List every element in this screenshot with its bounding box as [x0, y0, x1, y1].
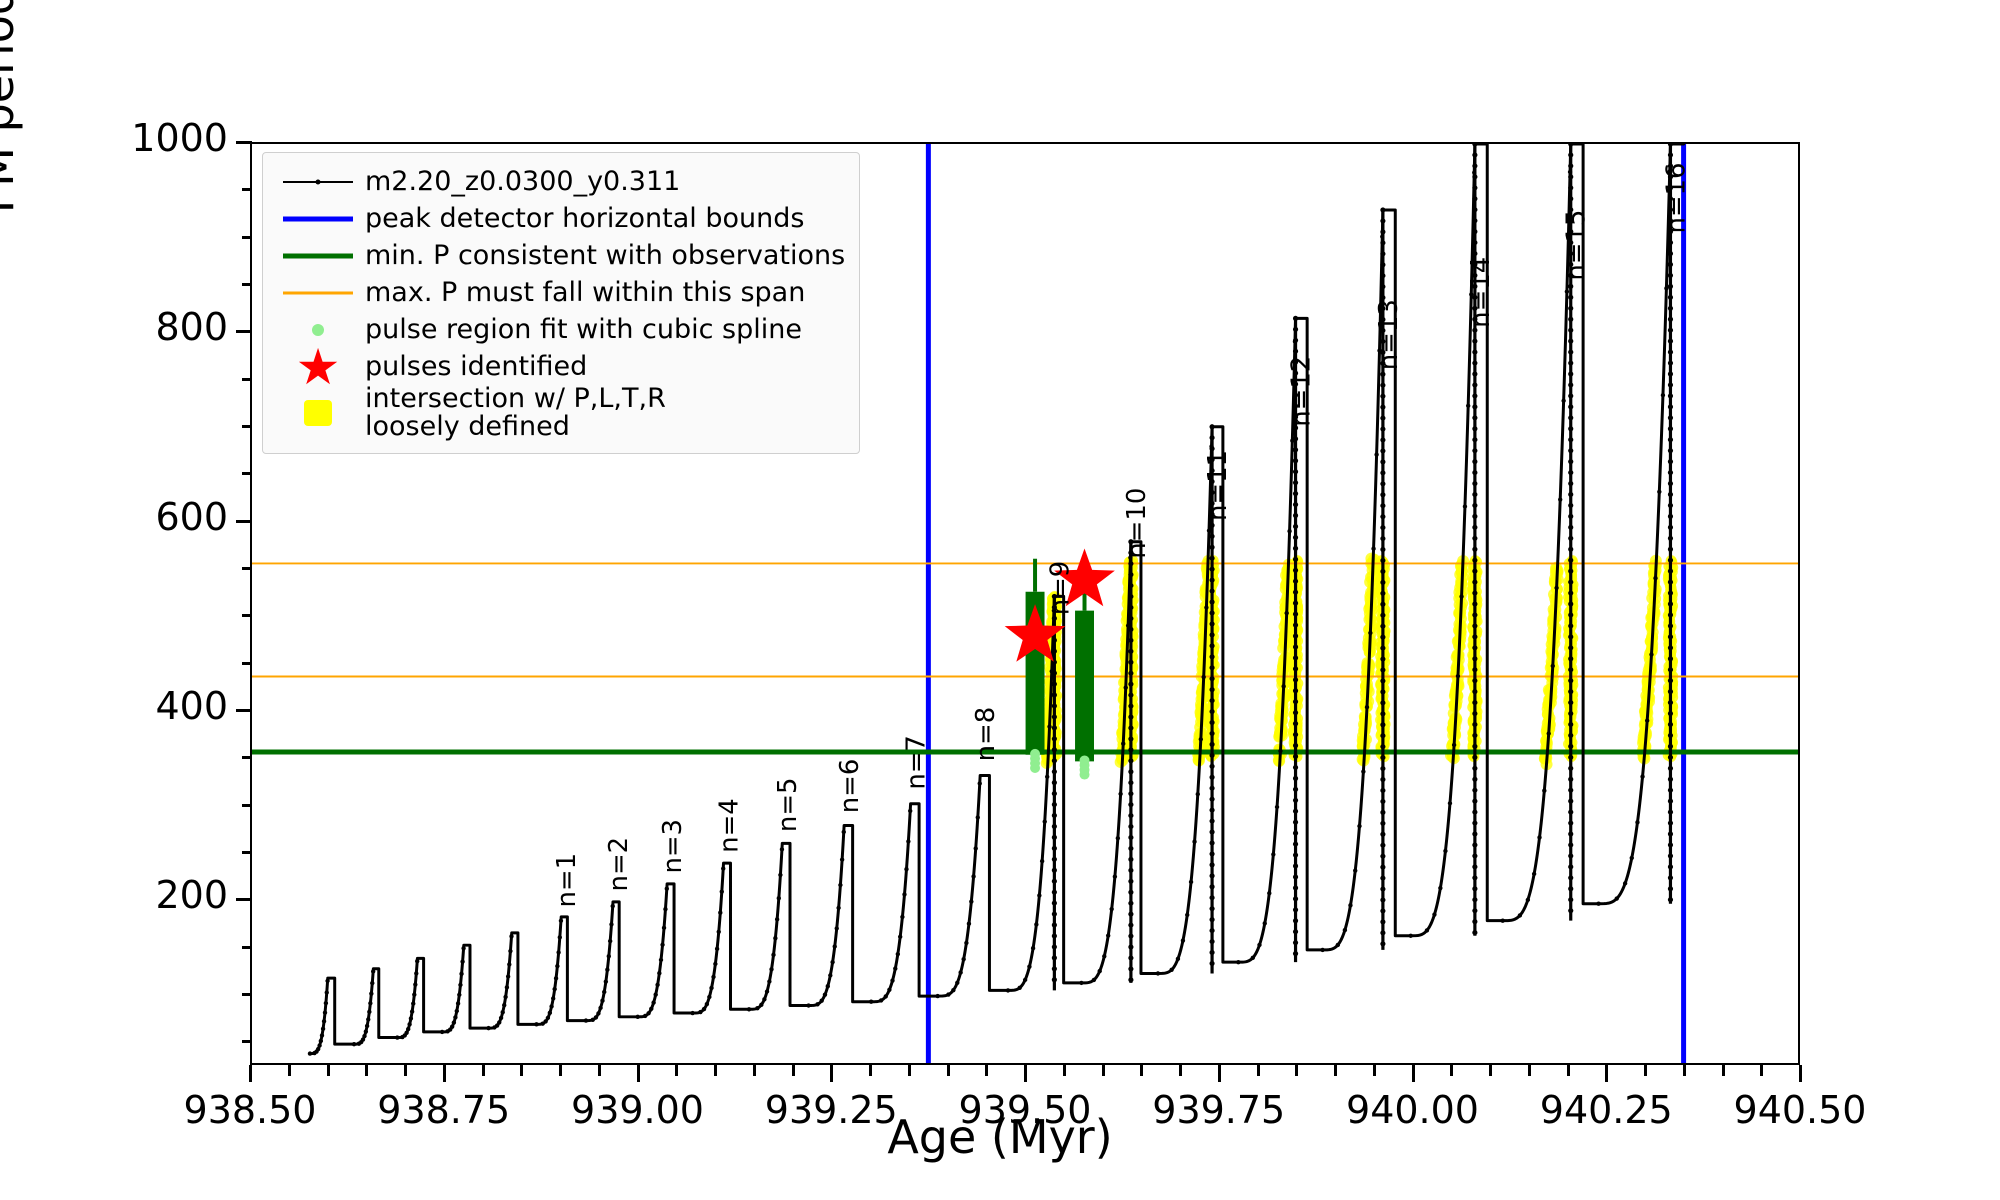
x-tick-major: [637, 1065, 640, 1082]
x-tick-minor: [714, 1065, 717, 1076]
y-tick-label: 200: [0, 873, 228, 917]
x-tick-minor: [1760, 1065, 1763, 1076]
svg-text:n=10: n=10: [1122, 488, 1152, 559]
legend-item[interactable]: peak detector horizontal bounds: [277, 200, 845, 237]
svg-text:n=7: n=7: [902, 735, 932, 790]
legend-item[interactable]: intersection w/ P,L,T,R loosely defined: [277, 385, 845, 441]
legend-marker-line-icon: [277, 237, 359, 274]
x-axis-title: Age (Myr): [0, 1110, 2000, 1164]
x-tick-major: [1605, 1065, 1608, 1082]
svg-text:n=9: n=9: [1045, 561, 1075, 616]
x-tick-minor: [404, 1065, 407, 1076]
y-tick-label: 400: [0, 684, 228, 728]
x-tick-minor: [947, 1065, 950, 1076]
svg-text:n=14: n=14: [1466, 257, 1496, 328]
svg-text:n=16: n=16: [1661, 163, 1691, 234]
svg-text:n=13: n=13: [1374, 299, 1404, 370]
x-tick-minor: [482, 1065, 485, 1076]
legend-label: max. P must fall within this span: [359, 278, 805, 308]
svg-text:n=15: n=15: [1562, 210, 1592, 281]
x-tick-minor: [792, 1065, 795, 1076]
svg-text:n=2: n=2: [604, 837, 634, 892]
x-tick-major: [249, 1065, 252, 1082]
x-tick-minor: [598, 1065, 601, 1076]
x-tick-minor: [908, 1065, 911, 1076]
legend[interactable]: m2.20_z0.0300_y0.311peak detector horizo…: [262, 152, 860, 454]
x-tick-minor: [675, 1065, 678, 1076]
x-tick-minor: [520, 1065, 523, 1076]
x-tick-minor: [1722, 1065, 1725, 1076]
x-tick-minor: [1334, 1065, 1337, 1076]
x-tick-major: [1218, 1065, 1221, 1082]
x-tick-minor: [1063, 1065, 1066, 1076]
legend-item[interactable]: ★pulses identified: [277, 348, 845, 385]
x-tick-minor: [1295, 1065, 1298, 1076]
x-tick-minor: [1140, 1065, 1143, 1076]
legend-item[interactable]: pulse region fit with cubic spline: [277, 311, 845, 348]
x-tick-minor: [1567, 1065, 1570, 1076]
x-tick-major: [443, 1065, 446, 1082]
x-tick-minor: [869, 1065, 872, 1076]
legend-marker-square-icon: [277, 395, 359, 432]
svg-text:n=6: n=6: [835, 759, 865, 814]
y-tick-label: 1000: [0, 116, 228, 160]
x-tick-minor: [1683, 1065, 1686, 1076]
x-tick-minor: [327, 1065, 330, 1076]
y-tick-label: 600: [0, 495, 228, 539]
svg-text:n=3: n=3: [658, 819, 688, 874]
legend-item[interactable]: m2.20_z0.0300_y0.311: [277, 163, 845, 200]
x-tick-minor: [1179, 1065, 1182, 1076]
x-tick-minor: [1450, 1065, 1453, 1076]
legend-marker-line-icon: [277, 274, 359, 311]
svg-text:n=1: n=1: [552, 853, 582, 908]
y-tick-label: 800: [0, 305, 228, 349]
x-tick-minor: [1489, 1065, 1492, 1076]
legend-marker-line-with-dots-icon: [277, 163, 359, 200]
x-tick-minor: [753, 1065, 756, 1076]
legend-label: min. P consistent with observations: [359, 241, 845, 271]
x-tick-minor: [985, 1065, 988, 1076]
figure-root: FM period (days) 2004006008001000 938.50…: [0, 0, 2000, 1200]
legend-label: pulses identified: [359, 352, 587, 382]
legend-label: intersection w/ P,L,T,R loosely defined: [359, 385, 695, 441]
x-tick-minor: [559, 1065, 562, 1076]
x-tick-major: [830, 1065, 833, 1082]
x-tick-major: [1024, 1065, 1027, 1082]
x-tick-minor: [1644, 1065, 1647, 1076]
x-tick-major: [1799, 1065, 1802, 1082]
svg-text:n=11: n=11: [1203, 450, 1233, 521]
x-tick-minor: [1257, 1065, 1260, 1076]
legend-item[interactable]: max. P must fall within this span: [277, 274, 845, 311]
legend-label: pulse region fit with cubic spline: [359, 315, 802, 345]
svg-text:n=5: n=5: [773, 778, 803, 833]
legend-marker-line-icon: [277, 200, 359, 237]
svg-text:n=8: n=8: [971, 707, 1001, 762]
x-tick-minor: [1373, 1065, 1376, 1076]
x-tick-minor: [365, 1065, 368, 1076]
legend-item[interactable]: min. P consistent with observations: [277, 237, 845, 274]
x-tick-minor: [288, 1065, 291, 1076]
legend-label: m2.20_z0.0300_y0.311: [359, 167, 680, 197]
legend-marker-star-icon: ★: [277, 348, 359, 385]
x-tick-major: [1412, 1065, 1415, 1082]
svg-text:n=12: n=12: [1286, 356, 1316, 427]
legend-label: peak detector horizontal bounds: [359, 204, 804, 234]
svg-text:n=4: n=4: [714, 798, 744, 853]
x-tick-minor: [1528, 1065, 1531, 1076]
x-tick-minor: [1102, 1065, 1105, 1076]
